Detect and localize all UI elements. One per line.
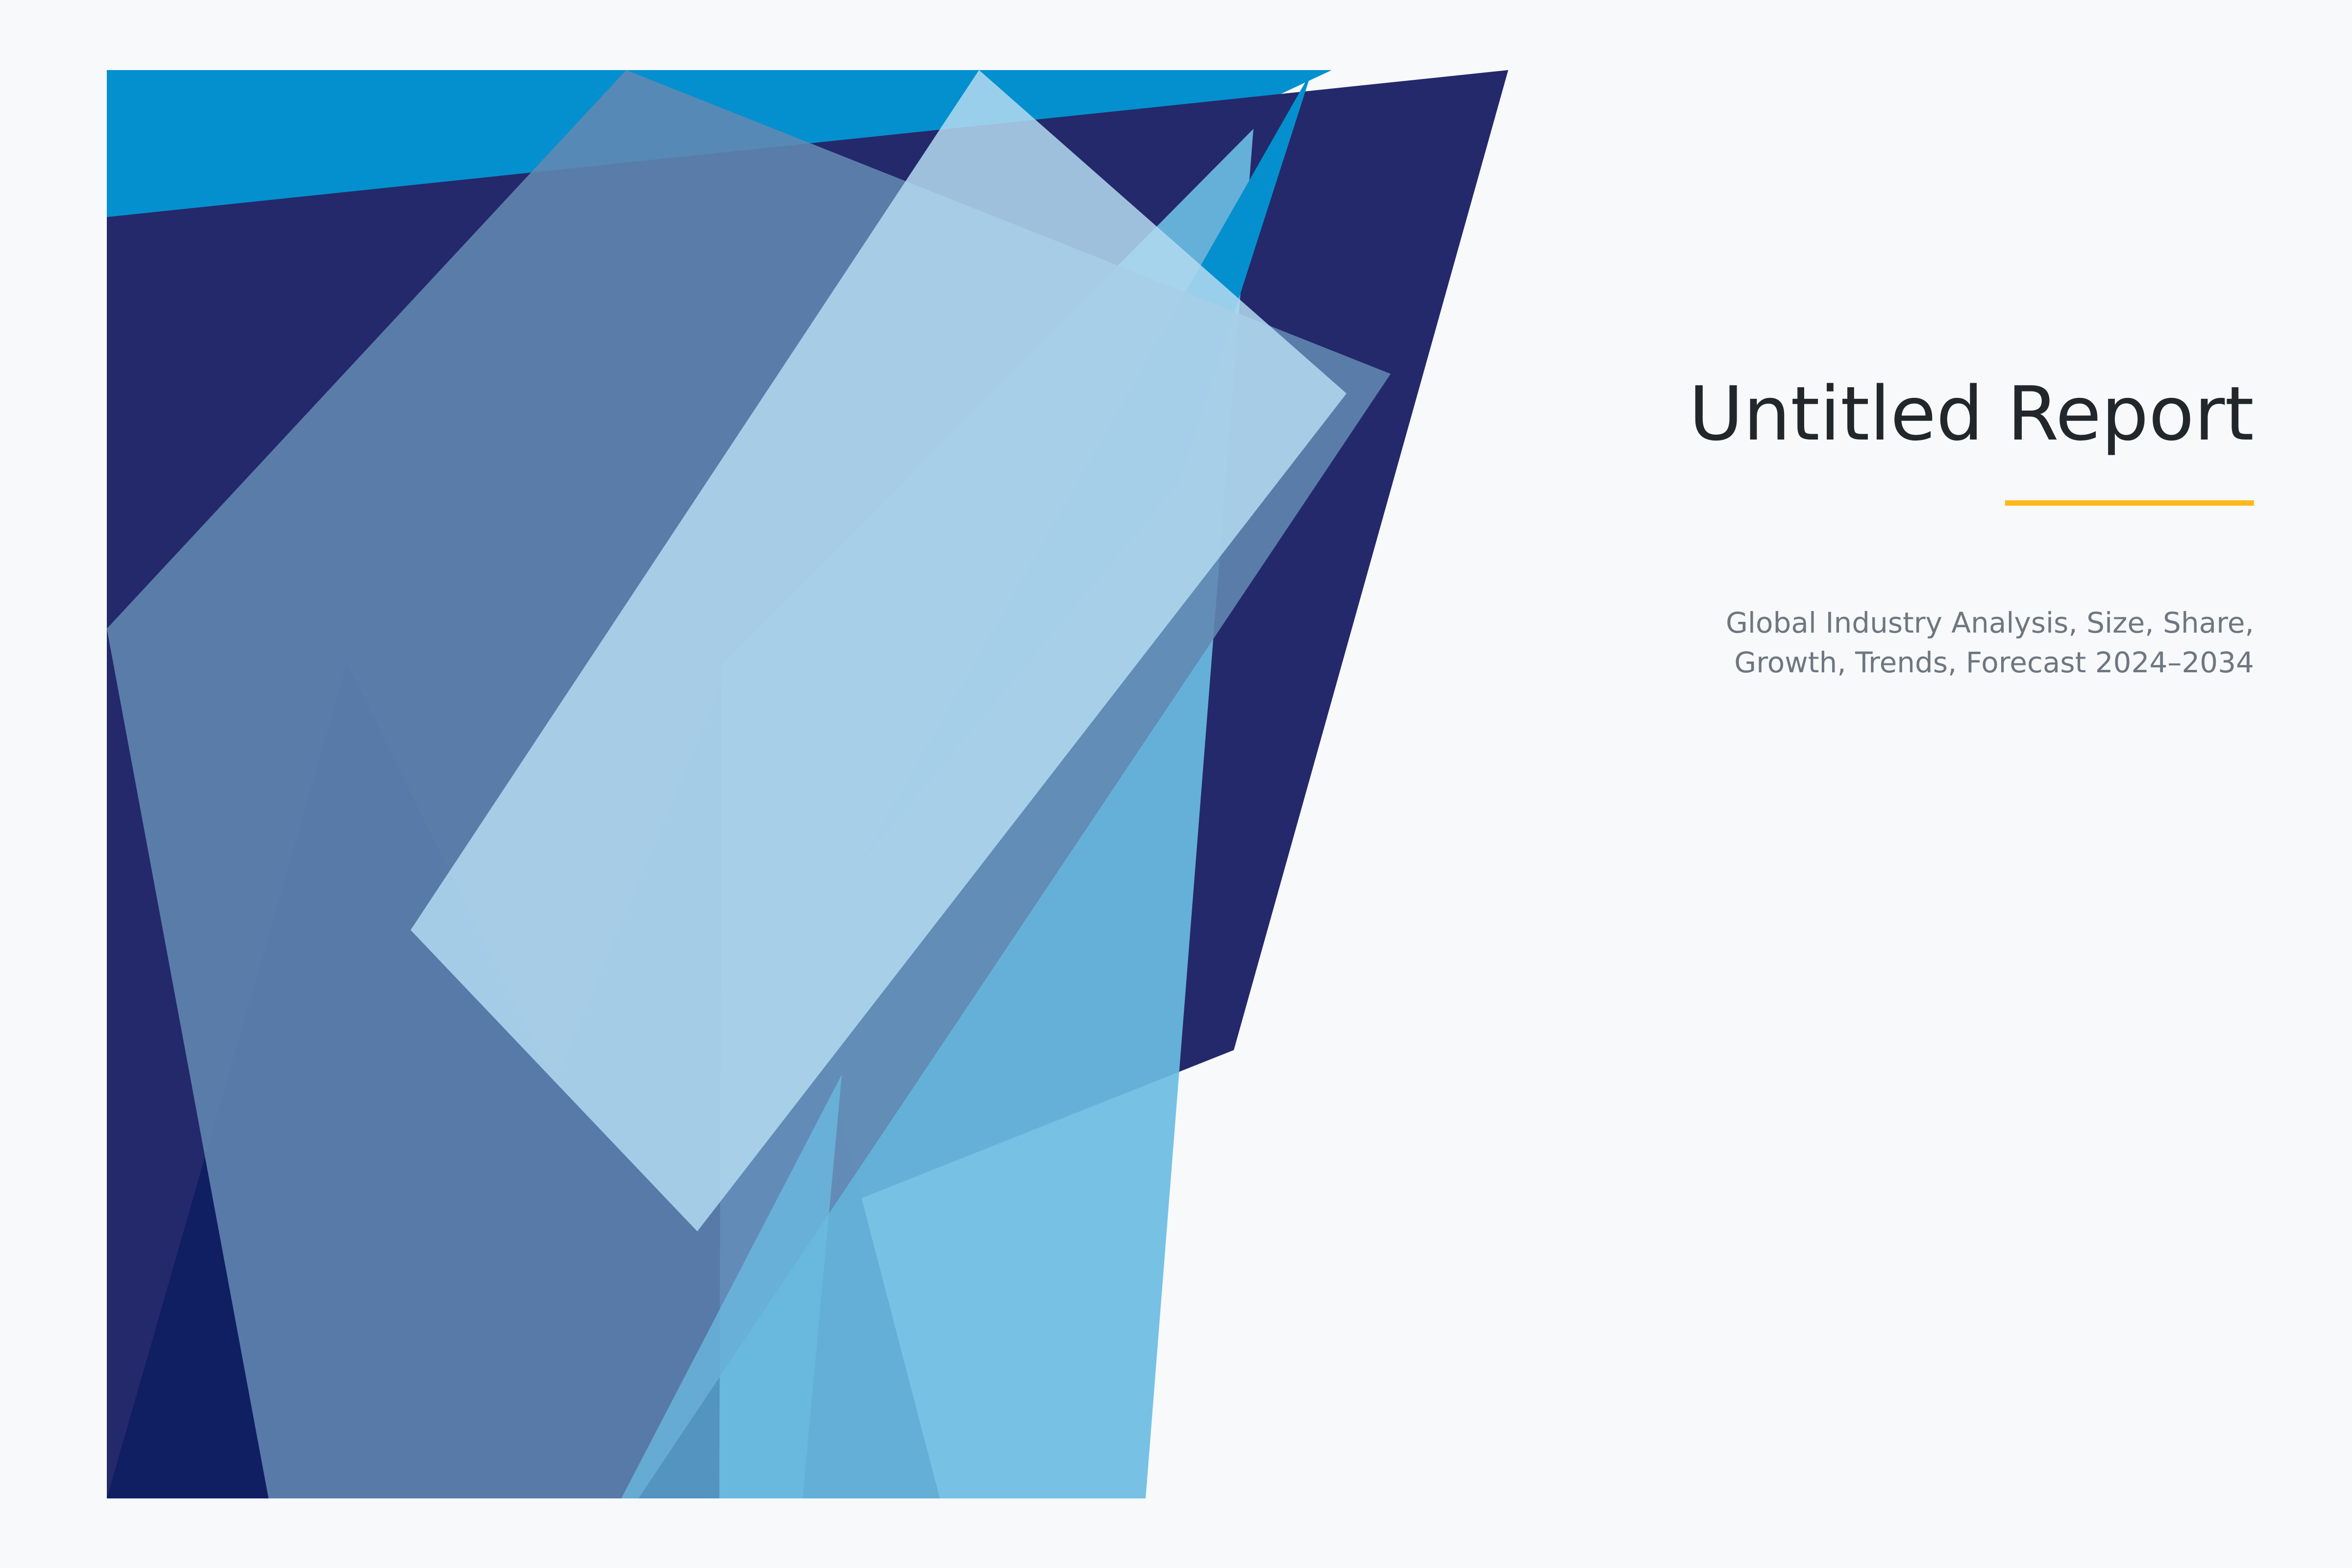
- cover-artwork-svg: [107, 70, 1508, 1498]
- report-cover-page: Untitled Report Global Industry Analysis…: [0, 0, 2352, 1568]
- cover-text-column: Untitled Report Global Industry Analysis…: [1568, 372, 2254, 683]
- report-subtitle: Global Industry Analysis, Size, Share, G…: [1568, 603, 2254, 683]
- cover-artwork: [107, 70, 1508, 1498]
- accent-rule-wrapper: [1568, 498, 2254, 507]
- page-title: Untitled Report: [1568, 372, 2254, 456]
- accent-rule: [2005, 500, 2254, 506]
